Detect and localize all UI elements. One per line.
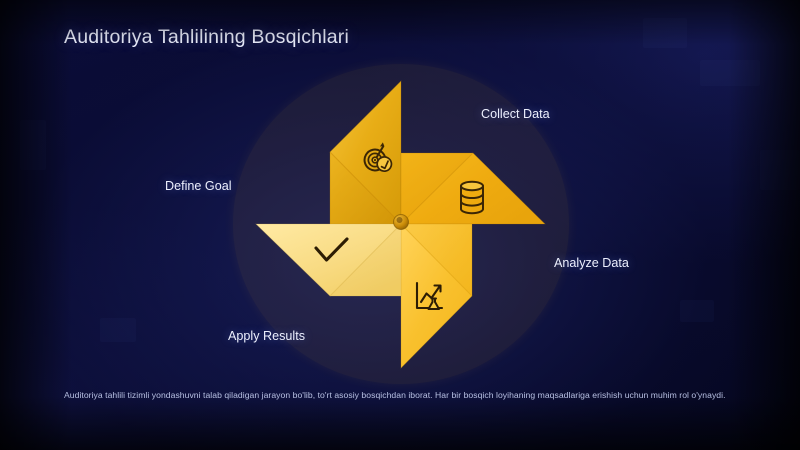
blade-define-goal-upper bbox=[330, 81, 401, 224]
blade-apply-results-crease bbox=[330, 224, 401, 296]
blade-analyze-data-crease bbox=[401, 224, 472, 296]
pinwheel-diagram bbox=[0, 0, 800, 450]
blade-collect-data-upper bbox=[401, 153, 545, 224]
blade-define-goal-fold bbox=[330, 152, 401, 224]
blade-collect-data[interactable] bbox=[401, 153, 545, 224]
background-block bbox=[20, 120, 46, 170]
vignette-overlay bbox=[0, 0, 800, 450]
blade-apply-results-outline bbox=[256, 224, 401, 296]
blade-analyze-data-upper bbox=[401, 224, 472, 368]
background-block bbox=[760, 150, 800, 190]
page-title: Auditoriya Tahlilining Bosqichlari bbox=[64, 26, 349, 49]
check-icon bbox=[316, 239, 347, 260]
blade-define-goal[interactable] bbox=[330, 81, 401, 224]
database-icon bbox=[461, 182, 483, 213]
growth-chart-icon bbox=[417, 283, 442, 309]
blade-label-analyze-data: Analyze Data bbox=[554, 256, 629, 270]
blade-collect-data-crease bbox=[401, 153, 473, 224]
background-block bbox=[100, 318, 136, 342]
blade-analyze-data[interactable] bbox=[401, 224, 472, 368]
blade-label-collect-data: Collect Data bbox=[481, 107, 550, 121]
slide-caption: Auditoriya tahlili tizimli yondashuvni t… bbox=[64, 388, 740, 402]
background-block bbox=[680, 300, 714, 322]
pinwheel-hub bbox=[394, 215, 409, 230]
blade-collect-data-outline bbox=[401, 153, 545, 224]
blade-label-define-goal: Define Goal bbox=[165, 179, 232, 193]
slide-canvas: Auditoriya Tahlilining Bosqichlari bbox=[0, 0, 800, 450]
background-block bbox=[700, 60, 760, 86]
background-block bbox=[643, 18, 687, 48]
blade-collect-data-fold bbox=[401, 153, 473, 224]
blade-apply-results-upper bbox=[256, 224, 401, 296]
target-dart-icon bbox=[361, 142, 393, 176]
blade-apply-results[interactable] bbox=[256, 224, 401, 296]
blade-define-goal-outline bbox=[330, 81, 401, 224]
blade-label-apply-results: Apply Results bbox=[228, 329, 305, 343]
blade-analyze-data-fold bbox=[401, 224, 472, 296]
blade-define-goal-crease bbox=[330, 152, 401, 224]
blade-apply-results-fold bbox=[330, 224, 401, 296]
blade-analyze-data-outline bbox=[401, 224, 472, 368]
